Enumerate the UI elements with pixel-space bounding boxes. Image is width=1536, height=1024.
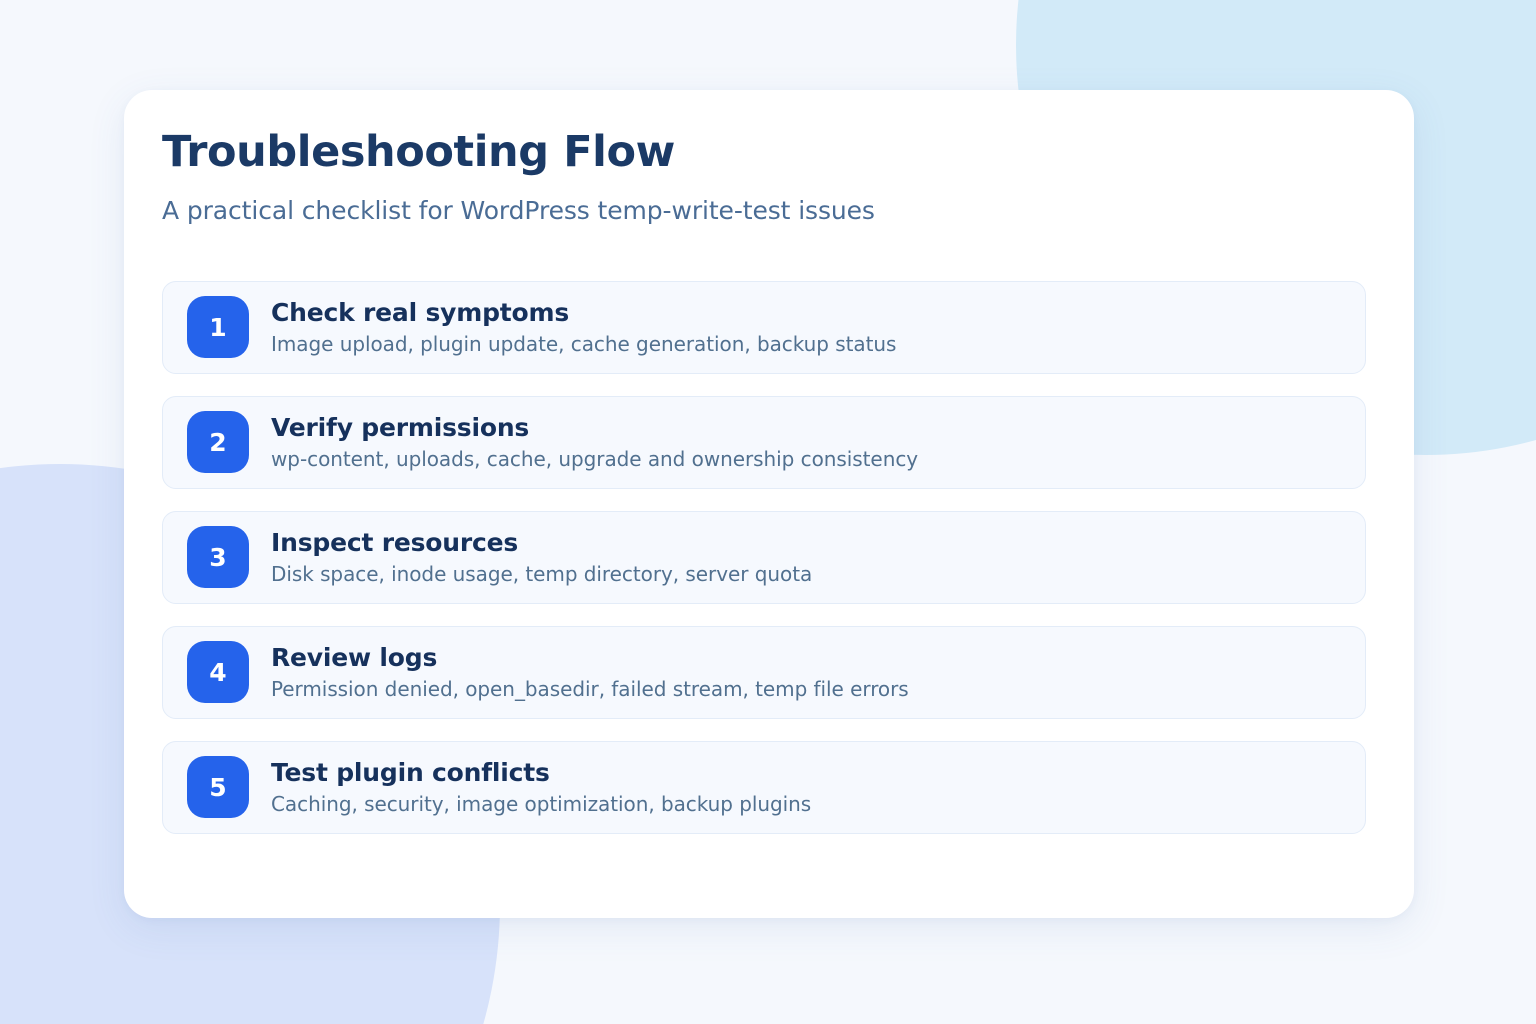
step-description: Permission denied, open_basedir, failed … xyxy=(271,677,909,701)
step-description: Caching, security, image optimization, b… xyxy=(271,792,811,816)
step-text: Verify permissions wp-content, uploads, … xyxy=(271,414,918,471)
step-description: wp-content, uploads, cache, upgrade and … xyxy=(271,447,918,471)
page-subtitle: A practical checklist for WordPress temp… xyxy=(162,196,1366,226)
step-title: Review logs xyxy=(271,644,909,673)
step-title: Check real symptoms xyxy=(271,299,896,328)
step-number-badge: 2 xyxy=(187,411,249,473)
step-description: Disk space, inode usage, temp directory,… xyxy=(271,562,812,586)
step-text: Review logs Permission denied, open_base… xyxy=(271,644,909,701)
steps-list: 1 Check real symptoms Image upload, plug… xyxy=(162,281,1366,834)
troubleshooting-flow-card: Troubleshooting Flow A practical checkli… xyxy=(124,90,1414,918)
step-text: Inspect resources Disk space, inode usag… xyxy=(271,529,812,586)
page-title: Troubleshooting Flow xyxy=(162,128,1366,178)
step-number-badge: 4 xyxy=(187,641,249,703)
step-title: Verify permissions xyxy=(271,414,918,443)
step-title: Inspect resources xyxy=(271,529,812,558)
step-number-badge: 1 xyxy=(187,296,249,358)
card-header: Troubleshooting Flow A practical checkli… xyxy=(162,128,1366,226)
step-row-4[interactable]: 4 Review logs Permission denied, open_ba… xyxy=(162,626,1366,719)
step-row-5[interactable]: 5 Test plugin conflicts Caching, securit… xyxy=(162,741,1366,834)
step-row-2[interactable]: 2 Verify permissions wp-content, uploads… xyxy=(162,396,1366,489)
step-row-1[interactable]: 1 Check real symptoms Image upload, plug… xyxy=(162,281,1366,374)
step-text: Test plugin conflicts Caching, security,… xyxy=(271,759,811,816)
step-text: Check real symptoms Image upload, plugin… xyxy=(271,299,896,356)
step-number-badge: 3 xyxy=(187,526,249,588)
step-description: Image upload, plugin update, cache gener… xyxy=(271,332,896,356)
step-row-3[interactable]: 3 Inspect resources Disk space, inode us… xyxy=(162,511,1366,604)
step-number-badge: 5 xyxy=(187,756,249,818)
step-title: Test plugin conflicts xyxy=(271,759,811,788)
